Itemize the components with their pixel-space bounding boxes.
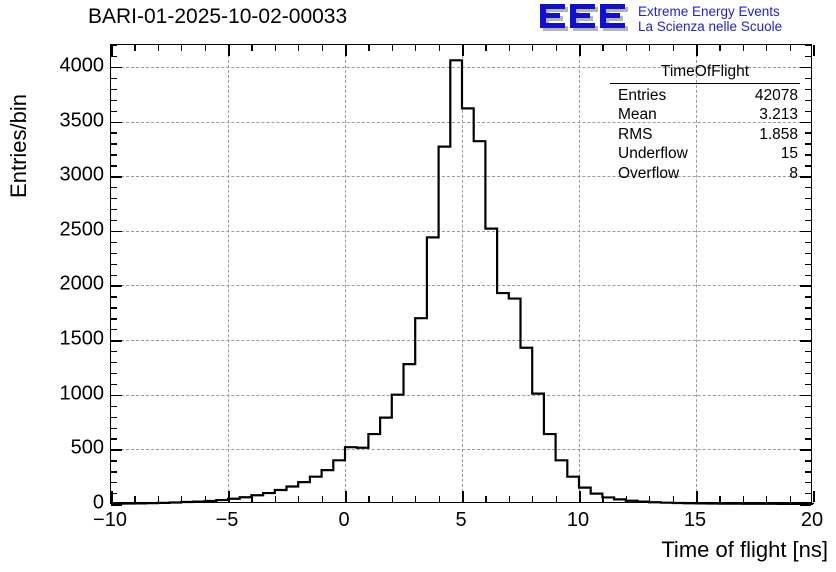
y-tick-label: 2000 <box>60 273 105 296</box>
eee-logo-line2: La Scienza nelle Scuole <box>638 19 782 34</box>
x-tick-label: 5 <box>455 509 466 532</box>
stats-key: Mean <box>618 105 657 125</box>
stats-row: Entries42078 <box>610 86 800 106</box>
y-tick-label: 4000 <box>60 54 105 77</box>
x-axis-title: Time of flight [ns] <box>661 537 828 563</box>
y-tick-label: 500 <box>71 437 104 460</box>
stats-key: RMS <box>618 125 652 145</box>
stats-key: Underflow <box>618 144 688 164</box>
axis-tick <box>813 491 815 502</box>
y-tick-label: 1500 <box>60 328 105 351</box>
stats-row: RMS1.858 <box>610 125 800 145</box>
x-tick-label: 0 <box>338 509 349 532</box>
stats-row: Underflow15 <box>610 144 800 164</box>
stats-key: Overflow <box>618 164 679 184</box>
x-tick-label: 20 <box>801 509 823 532</box>
x-tick-label: 10 <box>567 509 589 532</box>
page-title: BARI-01-2025-10-02-00033 <box>88 5 347 29</box>
stats-box: TimeOfFlight Entries42078Mean3.213RMS1.8… <box>610 62 800 183</box>
y-tick-label: 0 <box>93 492 104 515</box>
y-tick-label: 3500 <box>60 109 105 132</box>
eee-logo-line1: Extreme Energy Events <box>638 4 782 19</box>
stats-value: 1.858 <box>759 125 798 145</box>
x-tick-label: 15 <box>684 509 706 532</box>
plot-canvas: BARI-01-2025-10-02-00033 <box>0 0 836 572</box>
stats-value: 3.213 <box>759 105 798 125</box>
eee-logo-text: Extreme Energy Events La Scienza nelle S… <box>638 3 782 34</box>
axis-tick <box>813 45 815 56</box>
eee-logo: Extreme Energy Events La Scienza nelle S… <box>540 3 782 35</box>
eee-mark-icon <box>540 3 632 35</box>
stats-row: Overflow8 <box>610 164 800 184</box>
y-tick-label: 3000 <box>60 164 105 187</box>
stats-key: Entries <box>618 86 666 106</box>
stats-value: 42078 <box>755 86 798 106</box>
x-tick-label: −5 <box>216 509 239 532</box>
stats-value: 8 <box>789 164 798 184</box>
y-axis-title: Entries/bin <box>6 94 32 198</box>
stats-row: Mean3.213 <box>610 105 800 125</box>
y-tick-label: 2500 <box>60 218 105 241</box>
stats-rows: Entries42078Mean3.213RMS1.858Underflow15… <box>610 86 800 184</box>
y-tick-label: 1000 <box>60 382 105 405</box>
stats-value: 15 <box>781 144 798 164</box>
stats-divider <box>610 83 800 84</box>
stats-title: TimeOfFlight <box>610 62 800 83</box>
